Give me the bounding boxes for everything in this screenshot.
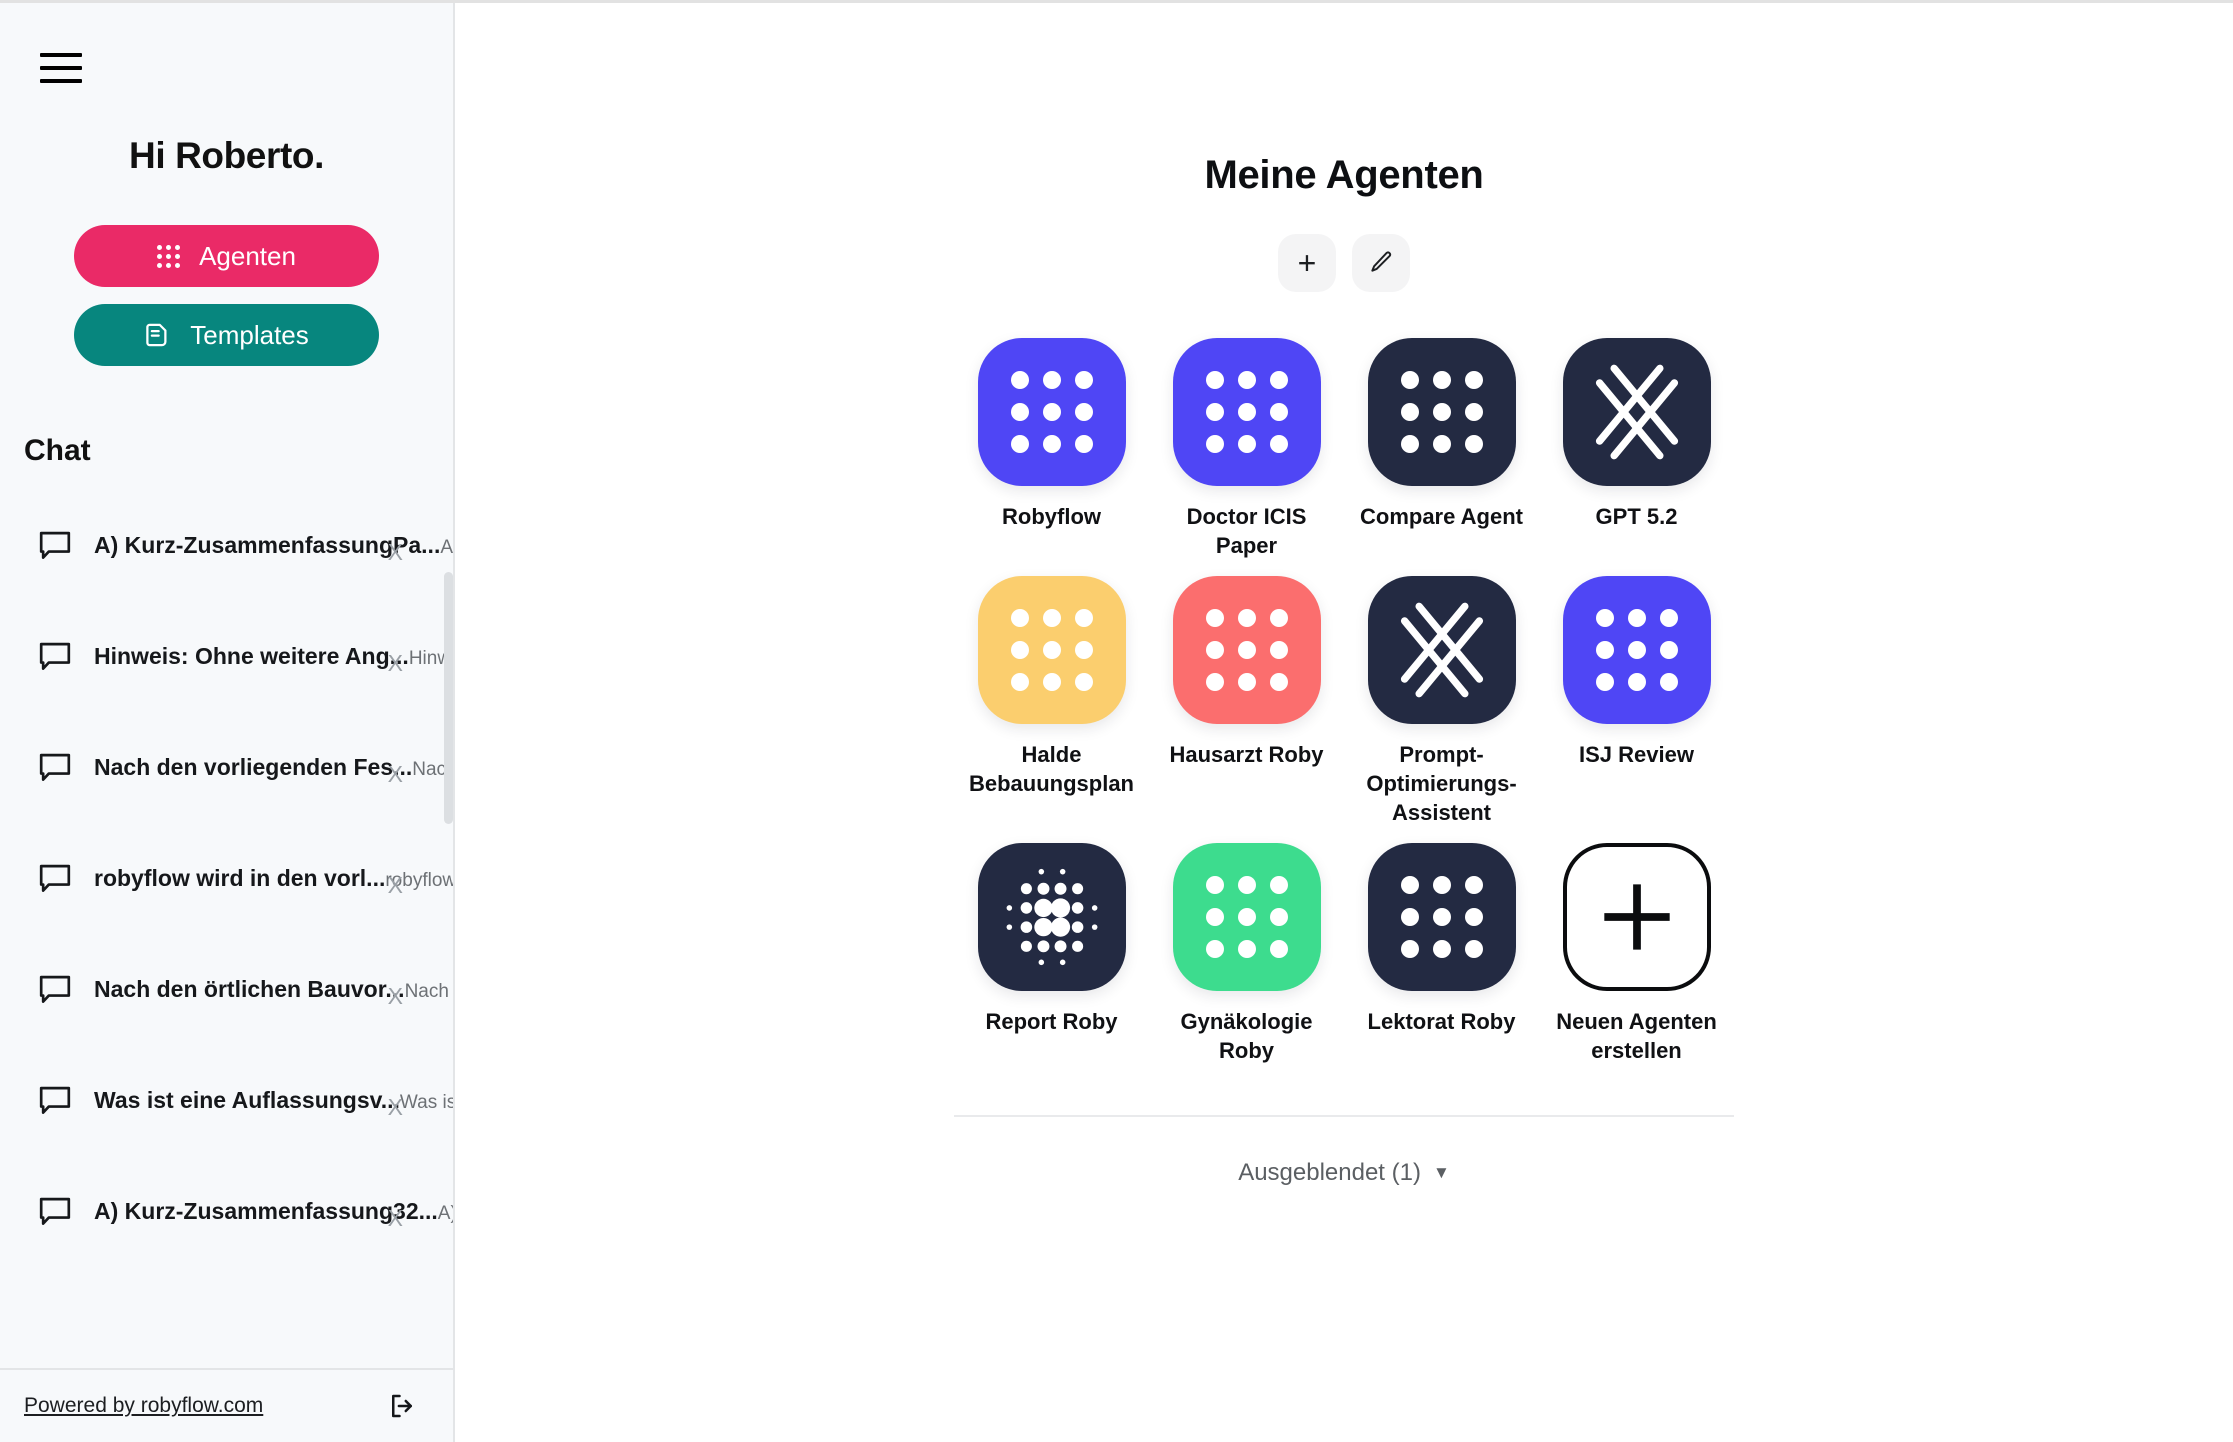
chat-item-texts: robyflow wird in den vorl...robyflow wir… [94, 863, 356, 895]
chat-bubble-icon [38, 1085, 72, 1116]
edit-agents-button[interactable] [1352, 234, 1410, 292]
chat-item-close-button[interactable]: X [378, 539, 425, 566]
chat-bubble-icon [38, 863, 72, 894]
app-root: Hi Roberto. Agenten Templates [0, 0, 2233, 1442]
agent-tile-icon-box [1173, 338, 1321, 486]
chat-item-title: Nach den örtlichen Bauvor... [94, 976, 405, 1002]
dot-grid-icon [157, 245, 180, 268]
agents-nav-button[interactable]: Agenten [74, 225, 379, 287]
agent-tile-icon-box [1368, 338, 1516, 486]
chat-list-item[interactable]: Nach den vorliegenden Fes...Nach den vor… [0, 712, 425, 823]
radial-dots-icon [996, 861, 1108, 973]
cross-hatch-icon [1585, 360, 1689, 464]
dot-grid-icon [1206, 609, 1288, 691]
agent-tile-label: Report Roby [986, 1007, 1118, 1036]
chat-item-preview: A) Kurz-Zusammenfassung32... [438, 1203, 453, 1224]
agent-tile-icon-box [1563, 843, 1711, 991]
chat-item-close-button[interactable]: X [378, 1094, 425, 1121]
agent-tile-icon-box [978, 843, 1126, 991]
agent-tile[interactable]: Lektorat Roby [1344, 843, 1539, 1065]
chat-item-texts: Was ist eine Auflassungsv...Was ist eine… [94, 1085, 356, 1117]
chat-bubble-icon [38, 1196, 72, 1227]
agent-tile-label: Compare Agent [1360, 502, 1523, 531]
agent-tile[interactable]: Hausarzt Roby [1149, 576, 1344, 827]
dot-grid-icon [1011, 371, 1093, 453]
hidden-agents-toggle[interactable]: Ausgeblendet (1) ▼ [1238, 1159, 1450, 1187]
chat-section-heading: Chat [24, 434, 453, 468]
agent-tile-label: ISJ Review [1579, 740, 1694, 769]
dot-grid-icon [1206, 876, 1288, 958]
agent-tile-label: Lektorat Roby [1368, 1007, 1516, 1036]
pencil-icon [1368, 249, 1394, 278]
chat-item-title: Hinweis: Ohne weitere Ang... [94, 643, 409, 669]
chat-list-item[interactable]: robyflow wird in den vorl...robyflow wir… [0, 823, 425, 934]
dot-grid-icon [1401, 876, 1483, 958]
powered-by-link[interactable]: Powered by robyflow.com [24, 1394, 263, 1418]
chat-list-scrollbar[interactable] [444, 572, 453, 824]
chat-item-preview: A) Kurz-ZusammenfassungPa... [440, 537, 453, 558]
sidebar-footer: Powered by robyflow.com [0, 1368, 453, 1442]
agent-tile-icon-box [1173, 576, 1321, 724]
chat-item-title: robyflow wird in den vorl... [94, 865, 385, 891]
agent-tile-icon-box [1563, 576, 1711, 724]
dot-grid-icon [1401, 371, 1483, 453]
main-content: Meine Agenten + RobyflowDoctor ICIS Pape… [455, 3, 2233, 1442]
chat-item-close-button[interactable]: X [378, 761, 425, 788]
agent-tile[interactable]: Gynäkologie Roby [1149, 843, 1344, 1065]
agent-tile-icon-box [1368, 576, 1516, 724]
chat-item-close-button[interactable]: X [378, 983, 425, 1010]
agent-tile-label: Halde Bebauungsplan [962, 740, 1142, 798]
agents-nav-label: Agenten [199, 241, 296, 272]
agent-tile[interactable]: Neuen Agenten erstellen [1539, 843, 1734, 1065]
hamburger-line [40, 79, 82, 83]
hamburger-line [40, 53, 82, 57]
add-agent-button[interactable]: + [1278, 234, 1336, 292]
chevron-down-icon: ▼ [1433, 1163, 1450, 1183]
greeting-text: Hi Roberto. [0, 135, 453, 177]
chat-item-texts: Nach den vorliegenden Fes...Nach den vor… [94, 752, 356, 784]
chat-item-title: Nach den vorliegenden Fes... [94, 754, 412, 780]
agent-tile-icon-box [978, 338, 1126, 486]
chat-item-title: Was ist eine Auflassungsv... [94, 1087, 400, 1113]
plus-icon: + [1298, 247, 1317, 279]
chat-bubble-icon [38, 641, 72, 672]
dot-grid-icon [1206, 371, 1288, 453]
chat-item-close-button[interactable]: X [378, 872, 425, 899]
agent-tile-icon-box [1368, 843, 1516, 991]
agent-tile-icon-box [1563, 338, 1711, 486]
chat-list-item[interactable]: A) Kurz-Zusammenfassung32...A) Kurz-Zusa… [0, 1156, 425, 1267]
agent-tile[interactable]: Doctor ICIS Paper [1149, 338, 1344, 560]
page-title: Meine Agenten [1204, 153, 1483, 198]
agent-tile-label: Prompt-Optimierungs-Assistent [1352, 740, 1532, 827]
chat-item-close-button[interactable]: X [378, 1205, 425, 1232]
templates-nav-label: Templates [190, 320, 309, 351]
dot-grid-icon [1596, 609, 1678, 691]
sidebar-nav-buttons: Agenten Templates [0, 225, 453, 366]
chat-list-item[interactable]: A) Kurz-ZusammenfassungPa...A) Kurz-Zusa… [0, 490, 425, 601]
chat-list: A) Kurz-ZusammenfassungPa...A) Kurz-Zusa… [0, 490, 453, 1368]
agent-grid: RobyflowDoctor ICIS PaperCompare AgentGP… [954, 338, 1734, 1065]
chat-item-texts: A) Kurz-Zusammenfassung32...A) Kurz-Zusa… [94, 1196, 356, 1228]
agent-tile[interactable]: GPT 5.2 [1539, 338, 1734, 560]
sidebar: Hi Roberto. Agenten Templates [0, 3, 455, 1442]
page-action-buttons: + [1278, 234, 1410, 292]
chat-item-texts: Hinweis: Ohne weitere Ang...Hinweis: Ohn… [94, 641, 356, 673]
agent-tile-label: Gynäkologie Roby [1157, 1007, 1337, 1065]
agent-tile-label: Doctor ICIS Paper [1157, 502, 1337, 560]
chat-bubble-icon [38, 530, 72, 561]
chat-bubble-icon [38, 974, 72, 1005]
cross-hatch-icon [1390, 598, 1494, 702]
hidden-agents-label: Ausgeblendet (1) [1238, 1159, 1421, 1187]
agent-tile-label: Neuen Agenten erstellen [1547, 1007, 1727, 1065]
logout-icon[interactable] [387, 1391, 417, 1421]
chat-bubble-icon [38, 752, 72, 783]
hamburger-line [40, 66, 82, 70]
document-icon [144, 321, 171, 349]
agent-tile[interactable]: Halde Bebauungsplan [954, 576, 1149, 827]
agent-tile[interactable]: Robyflow [954, 338, 1149, 560]
plus-icon [1594, 874, 1680, 960]
chat-list-item[interactable]: Hinweis: Ohne weitere Ang...Hinweis: Ohn… [0, 601, 425, 712]
section-divider [954, 1115, 1734, 1117]
agent-tile-label: GPT 5.2 [1596, 502, 1678, 531]
templates-nav-button[interactable]: Templates [74, 304, 379, 366]
agent-tile-label: Robyflow [1002, 502, 1101, 531]
chat-item-close-button[interactable]: X [378, 650, 425, 677]
agent-tile[interactable]: ISJ Review [1539, 576, 1734, 827]
agent-tile-icon-box [1173, 843, 1321, 991]
agent-tile-icon-box [978, 576, 1126, 724]
chat-list-item[interactable]: Was ist eine Auflassungsv...Was ist eine… [0, 1045, 425, 1156]
chat-list-item[interactable]: Nach den örtlichen Bauvor...Nach den ört… [0, 934, 425, 1045]
agent-tile[interactable]: Prompt-Optimierungs-Assistent [1344, 576, 1539, 827]
agent-tile[interactable]: Report Roby [954, 843, 1149, 1065]
agent-tile-label: Hausarzt Roby [1169, 740, 1323, 769]
hamburger-menu-icon[interactable] [40, 53, 82, 83]
agent-tile[interactable]: Compare Agent [1344, 338, 1539, 560]
dot-grid-icon [1011, 609, 1093, 691]
chat-item-texts: Nach den örtlichen Bauvor...Nach den ört… [94, 974, 356, 1006]
chat-item-texts: A) Kurz-ZusammenfassungPa...A) Kurz-Zusa… [94, 530, 356, 562]
